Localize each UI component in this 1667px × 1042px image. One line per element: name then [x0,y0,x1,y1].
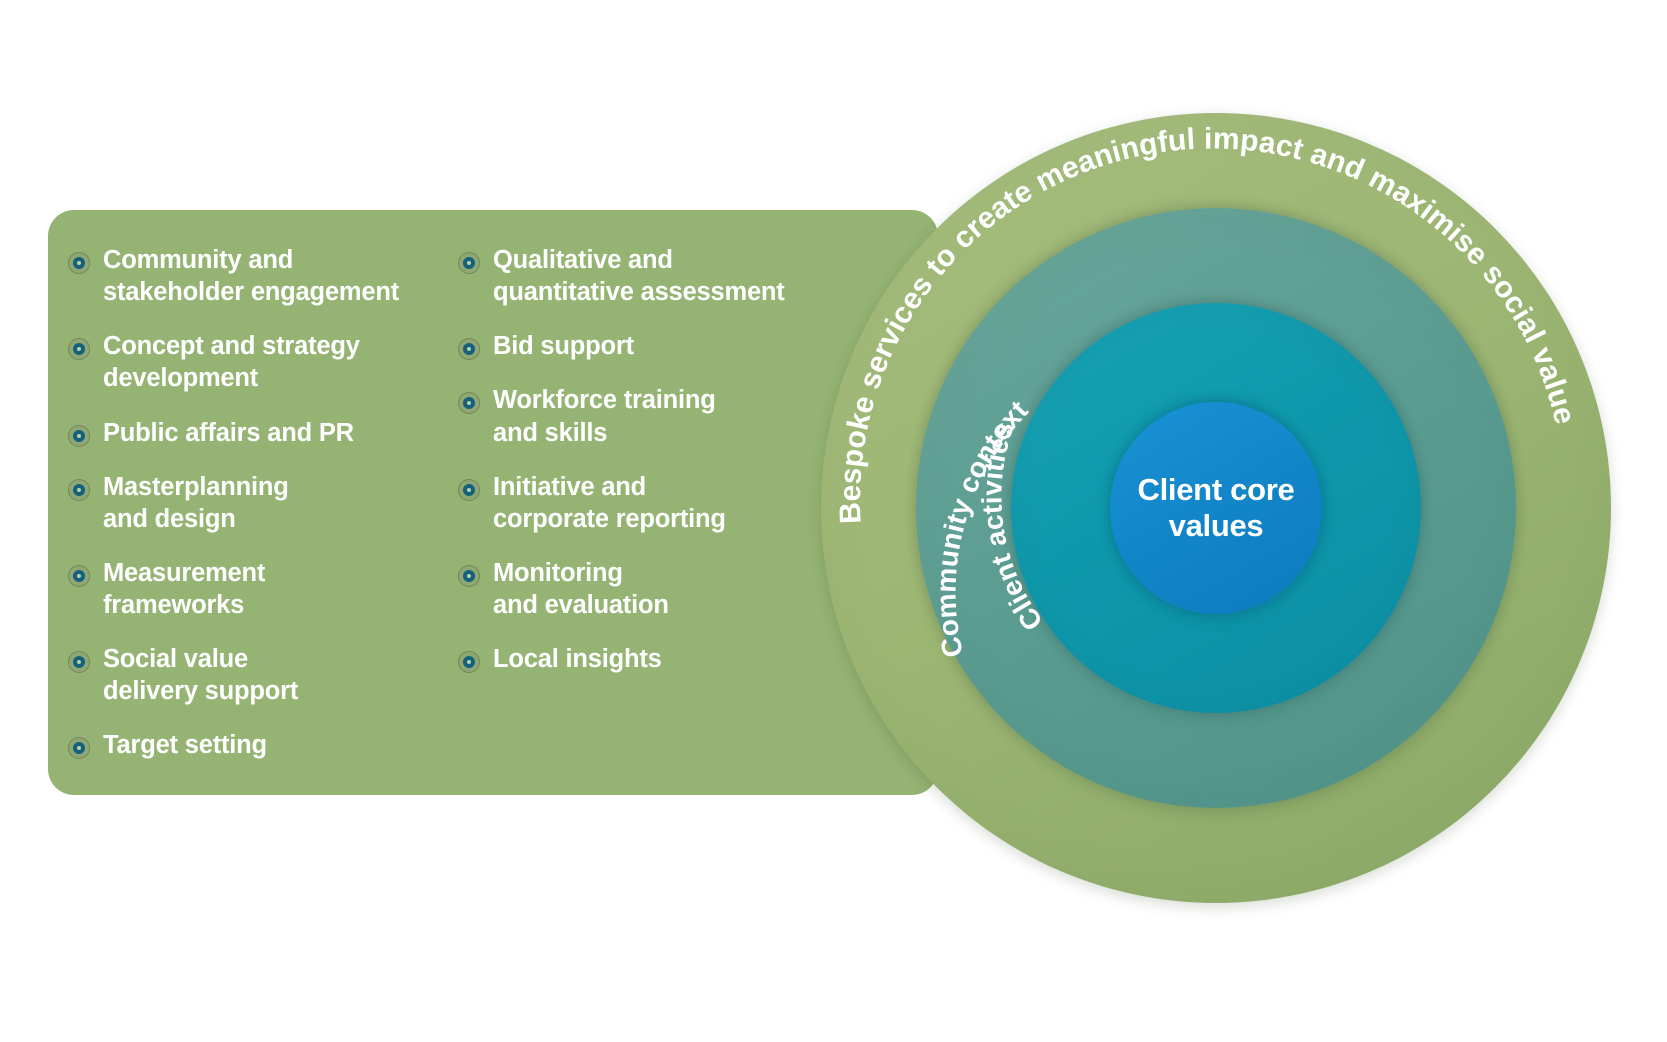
list-item[interactable]: Initiative and corporate reporting [458,471,878,535]
list-item-label: Local insights [493,643,662,675]
list-item-label: Concept and strategy development [103,330,360,394]
list-item[interactable]: Workforce training and skills [458,384,878,448]
list-item-label: Bid support [493,330,634,362]
list-item[interactable]: Masterplanning and design [68,471,458,535]
list-item-label: Target setting [103,729,267,761]
services-panel: Community and stakeholder engagement Con… [48,210,938,795]
list-item[interactable]: Public affairs and PR [68,417,458,449]
list-item-label: Initiative and corporate reporting [493,471,726,535]
list-item[interactable]: Qualitative and quantitative assessment [458,244,878,308]
list-item-label: Public affairs and PR [103,417,354,449]
list-item[interactable]: Community and stakeholder engagement [68,244,458,308]
list-item[interactable]: Local insights [458,643,878,675]
list-item-label: Qualitative and quantitative assessment [493,244,785,308]
target-dot-icon [458,565,480,587]
target-dot-icon [458,252,480,274]
target-dot-icon [458,392,480,414]
target-dot-icon [68,338,90,360]
list-item[interactable]: Target setting [68,729,458,761]
services-columns: Community and stakeholder engagement Con… [68,244,928,784]
list-item-label: Monitoring and evaluation [493,557,669,621]
list-item-label: Social value delivery support [103,643,298,707]
list-item[interactable]: Bid support [458,330,878,362]
target-dot-icon [68,252,90,274]
target-dot-icon [68,425,90,447]
target-dot-icon [68,565,90,587]
list-item-label: Measurement frameworks [103,557,265,621]
target-dot-icon [458,338,480,360]
list-item-label: Masterplanning and design [103,471,289,535]
target-dot-icon [458,651,480,673]
list-item[interactable]: Measurement frameworks [68,557,458,621]
diagram-canvas: Community and stakeholder engagement Con… [0,0,1667,1042]
target-dot-icon [68,651,90,673]
list-item-label: Workforce training and skills [493,384,716,448]
concentric-rings-diagram: Client core values Bespoke services to c… [821,113,1611,903]
list-item[interactable]: Monitoring and evaluation [458,557,878,621]
list-item[interactable]: Social value delivery support [68,643,458,707]
target-dot-icon [458,479,480,501]
ring-core: Client core values [1110,402,1322,614]
services-column-right: Qualitative and quantitative assessment … [458,244,878,784]
services-column-left: Community and stakeholder engagement Con… [68,244,458,784]
list-item-label: Community and stakeholder engagement [103,244,399,308]
target-dot-icon [68,479,90,501]
target-dot-icon [68,737,90,759]
ring-core-label: Client core values [1138,472,1295,544]
list-item[interactable]: Concept and strategy development [68,330,458,394]
